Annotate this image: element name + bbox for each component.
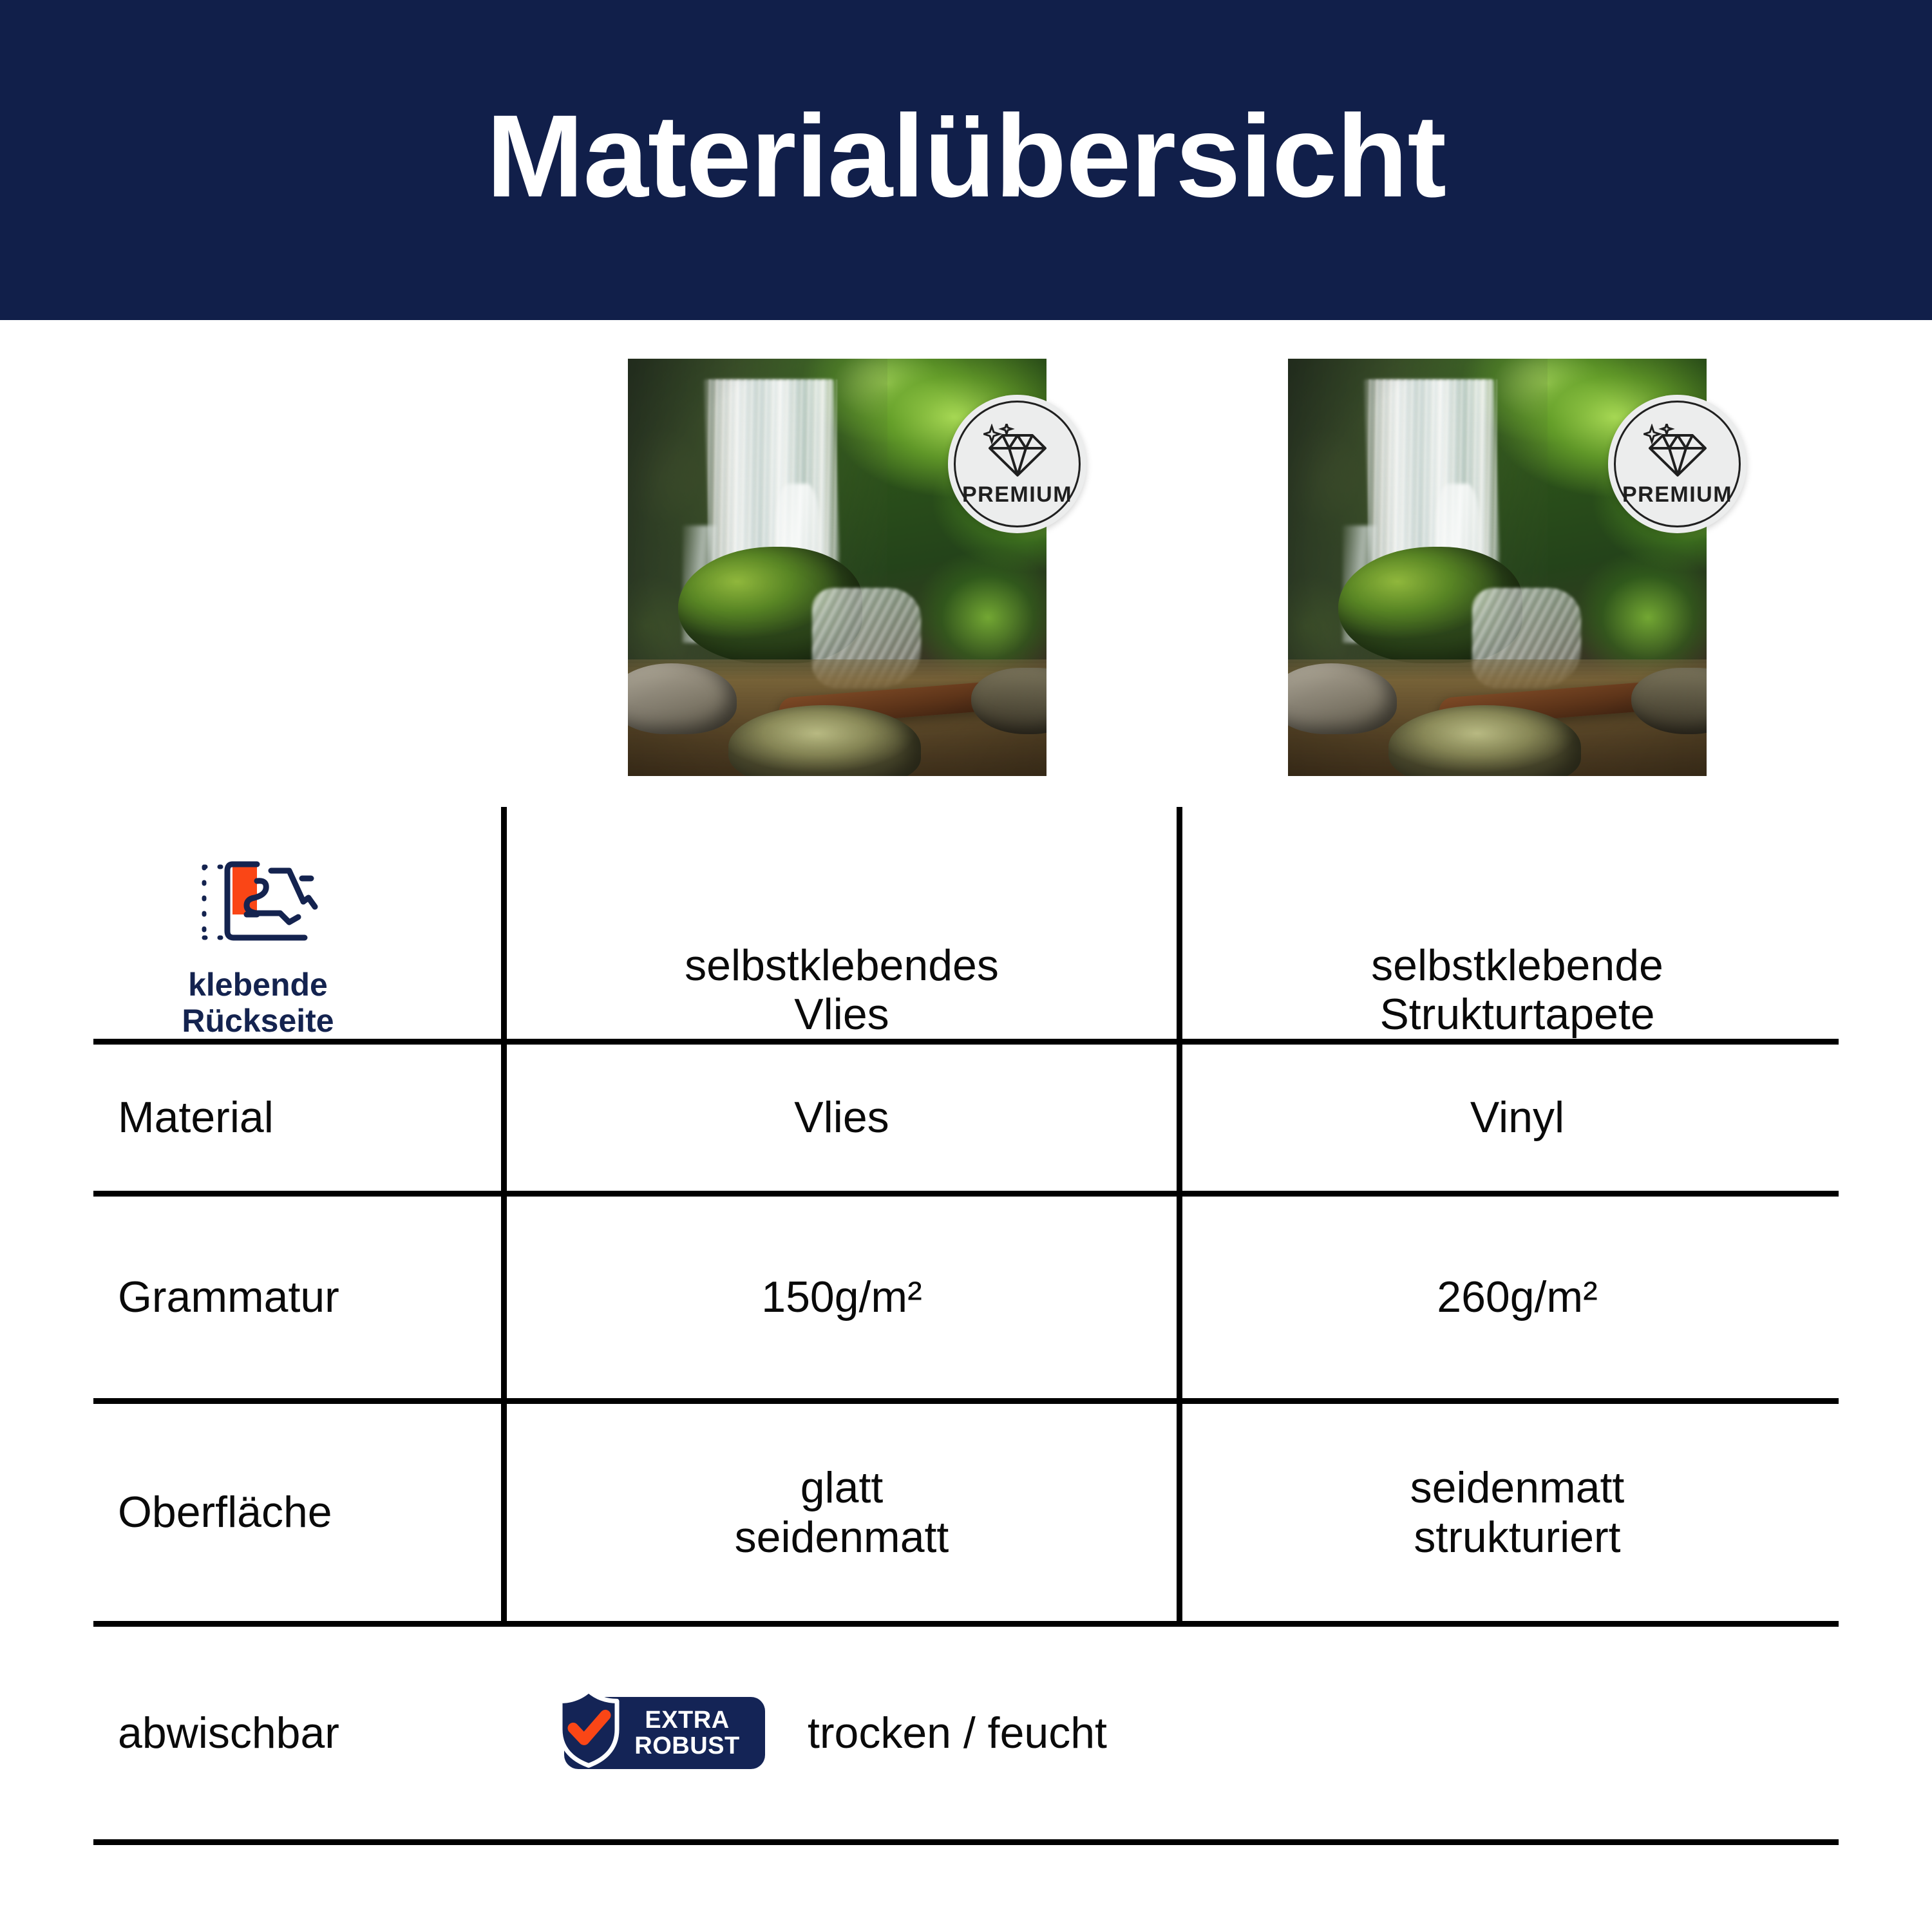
premium-badge: PREMIUM (948, 395, 1086, 533)
column-header-vlies: selbstklebendes Vlies (501, 807, 1177, 1039)
header-banner: Materialübersicht (0, 0, 1932, 320)
preview-image-row: PREMIUM (0, 359, 1932, 810)
premium-badge-label: PREMIUM (962, 484, 1072, 506)
diamond-icon (1643, 424, 1712, 481)
cell-oberflaeche-strukturtapete: seidenmatt strukturiert (1177, 1404, 1852, 1621)
peel-corner-icon (195, 855, 321, 961)
table-row-oberflaeche: Oberfläche glatt seidenmatt seidenmatt s… (93, 1404, 1839, 1627)
page-title: Materialübersicht (486, 97, 1446, 223)
table-row-material: Material Vlies Vinyl (93, 1045, 1839, 1197)
cell-grammatur-vlies: 150g/m² (501, 1197, 1177, 1398)
table-row-grammatur: Grammatur 150g/m² 260g/m² (93, 1197, 1839, 1404)
preview-card-vlies[interactable]: PREMIUM (628, 359, 1046, 776)
table-header-row: klebende Rückseite selbstklebendes Vlies… (93, 770, 1839, 1045)
cell-grammatur-strukturtapete: 260g/m² (1177, 1197, 1852, 1398)
row-label-abwischbar: abwischbar (93, 1627, 501, 1839)
cell-oberflaeche-vlies: glatt seidenmatt (501, 1404, 1177, 1621)
extra-robust-badge: EXTRA ROBUST (564, 1697, 765, 1770)
sticky-backing-feature-cell: klebende Rückseite (93, 855, 501, 1039)
extra-robust-line-2: ROBUST (623, 1733, 751, 1759)
shield-check-icon (555, 1687, 622, 1779)
cell-material-vlies: Vlies (501, 1045, 1177, 1191)
material-comparison-table: klebende Rückseite selbstklebendes Vlies… (93, 770, 1839, 1845)
column-header-strukturtapete: selbstklebende Strukturtapete (1177, 807, 1852, 1039)
row-label-oberflaeche: Oberfläche (93, 1404, 501, 1621)
sticky-backing-label: klebende Rückseite (182, 967, 334, 1039)
premium-badge-label: PREMIUM (1622, 484, 1732, 506)
diamond-icon (983, 424, 1052, 481)
table-row-abwischbar: abwischbar EXTRA ROBUST trocken / feucht (93, 1627, 1839, 1845)
preview-card-strukturtapete[interactable]: PREMIUM (1288, 359, 1707, 776)
abwischbar-value-text: trocken / feucht (808, 1709, 1107, 1757)
cell-material-strukturtapete: Vinyl (1177, 1045, 1852, 1191)
premium-badge: PREMIUM (1608, 395, 1747, 533)
row-label-grammatur: Grammatur (93, 1197, 501, 1398)
row-label-material: Material (93, 1045, 501, 1191)
extra-robust-line-1: EXTRA (623, 1707, 751, 1733)
cell-abwischbar-value: EXTRA ROBUST trocken / feucht (501, 1627, 1839, 1839)
